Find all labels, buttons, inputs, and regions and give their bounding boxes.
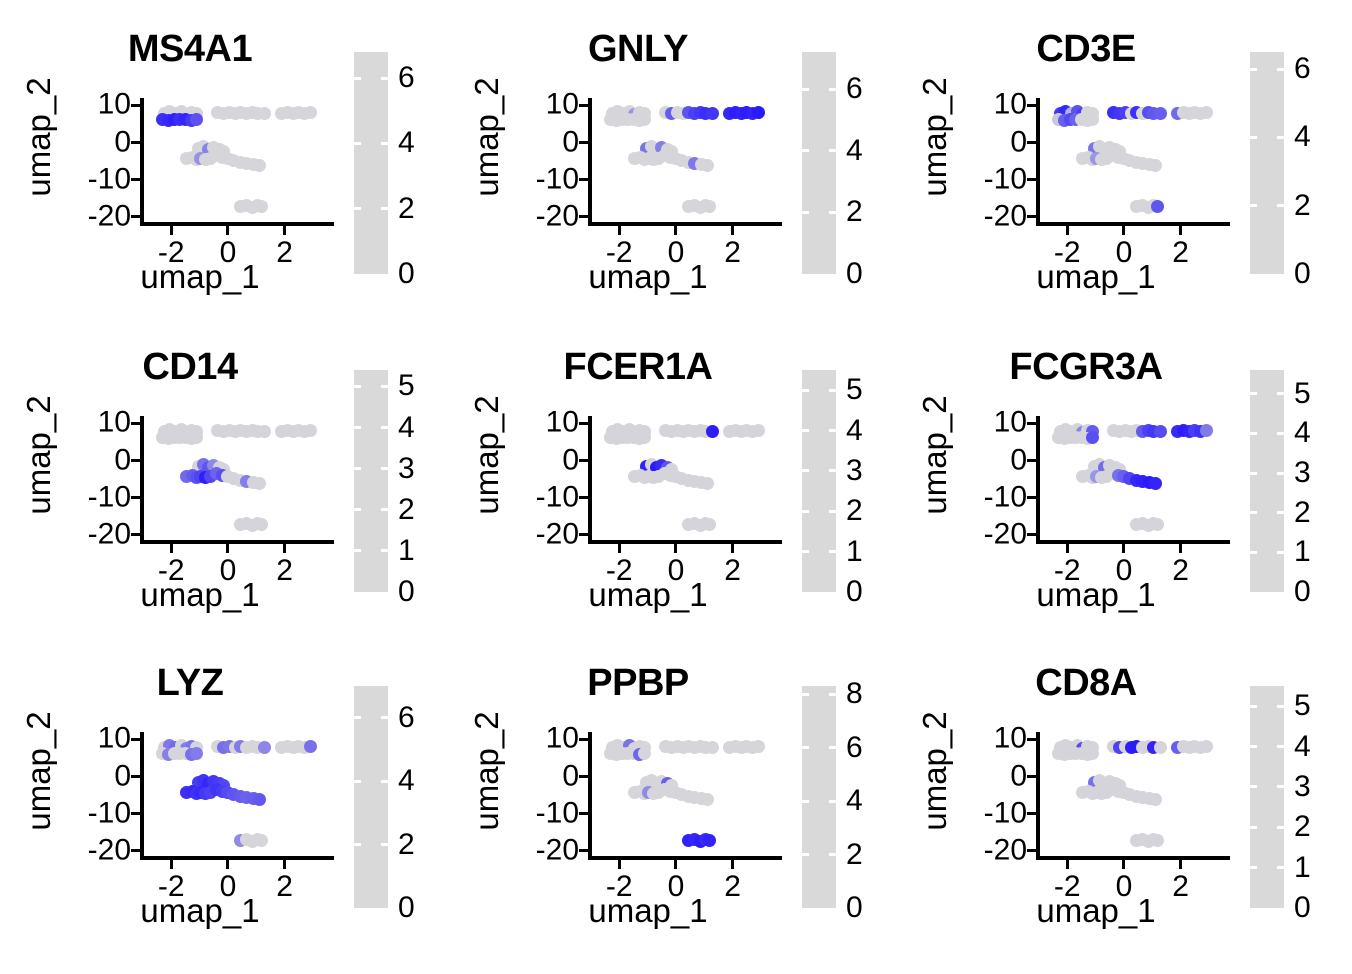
colorbar-tick-label: 6 — [398, 63, 415, 93]
scatter-point — [1086, 113, 1099, 126]
panel-title: CD3E — [936, 28, 1236, 71]
colorbar-tick-mark — [829, 800, 836, 803]
x-tick-label: 0 — [668, 556, 685, 586]
x-tick-label: 2 — [1172, 872, 1189, 902]
colorbar-tick-label: 0 — [1294, 577, 1311, 607]
x-tick-label: 0 — [1116, 238, 1133, 268]
x-tick-mark — [618, 226, 621, 235]
y-tick-label: -10 — [984, 164, 1027, 194]
y-tick-label: -20 — [88, 835, 131, 865]
colorbar: 012345 — [1250, 686, 1346, 914]
colorbar-tick-mark — [354, 207, 361, 210]
x-tick-mark — [731, 860, 734, 869]
scatter-points — [140, 416, 330, 544]
scatter-point — [1086, 431, 1099, 444]
colorbar-tick-mark — [1250, 511, 1257, 514]
colorbar-tick-mark — [829, 550, 836, 553]
scatter-point — [703, 518, 716, 531]
colorbar-tick-label: 0 — [846, 577, 863, 607]
panel-title: CD14 — [40, 346, 340, 389]
x-tick-label: 0 — [668, 872, 685, 902]
x-tick-label: -2 — [1054, 556, 1081, 586]
colorbar-tick-label: 0 — [398, 577, 415, 607]
colorbar-tick-mark — [1277, 136, 1284, 139]
colorbar-tick-label: 2 — [1294, 498, 1311, 528]
feature-panel-cd14: CD14umap_2umap_1100-10-20-202012345 — [0, 318, 450, 642]
colorbar-tick-label: 3 — [1294, 458, 1311, 488]
y-axis-label: umap_2 — [916, 390, 954, 520]
scatter-point — [258, 425, 271, 438]
y-tick-label: -10 — [984, 798, 1027, 828]
y-tick-mark — [1027, 496, 1036, 499]
y-tick-mark — [131, 738, 140, 741]
scatter-point — [1086, 747, 1099, 760]
y-tick-label: -10 — [984, 482, 1027, 512]
scatter-point — [638, 431, 651, 444]
x-tick-label: 0 — [220, 556, 237, 586]
scatter-points — [588, 416, 778, 544]
scatter-points — [140, 732, 330, 860]
y-tick-label: -10 — [536, 164, 579, 194]
scatter-point — [752, 106, 765, 119]
colorbar-tick-mark — [1250, 392, 1257, 395]
scatter-point — [304, 106, 317, 119]
y-tick-mark — [1027, 459, 1036, 462]
y-tick-label: 0 — [114, 761, 131, 791]
colorbar-tick-mark — [802, 693, 809, 696]
x-tick-label: -2 — [1054, 238, 1081, 268]
colorbar: 012345 — [354, 370, 450, 598]
scatter-point — [638, 747, 651, 760]
colorbar-tick-label: 2 — [846, 496, 863, 526]
y-tick-label: 0 — [562, 445, 579, 475]
colorbar-tick-label: 1 — [398, 536, 415, 566]
colorbar-tick-mark — [802, 550, 809, 553]
y-tick-label: -20 — [984, 201, 1027, 231]
y-tick-label: 0 — [562, 761, 579, 791]
x-tick-mark — [170, 860, 173, 869]
colorbar-tick-label: 4 — [1294, 732, 1311, 762]
colorbar-tick-mark — [829, 693, 836, 696]
y-tick-mark — [579, 738, 588, 741]
scatter-point — [1154, 425, 1167, 438]
y-axis-label: umap_2 — [20, 72, 58, 202]
x-tick-mark — [283, 544, 286, 553]
y-tick-mark — [131, 496, 140, 499]
y-tick-mark — [579, 812, 588, 815]
colorbar-tick-label: 4 — [846, 786, 863, 816]
y-tick-label: 10 — [546, 90, 579, 120]
colorbar-tick-label: 0 — [1294, 893, 1311, 923]
colorbar: 0246 — [354, 52, 450, 280]
y-tick-label: -20 — [536, 835, 579, 865]
x-tick-mark — [226, 860, 229, 869]
colorbar-tick-mark — [829, 88, 836, 91]
plot-area: 100-10-20-202 — [140, 732, 330, 860]
y-tick-mark — [131, 849, 140, 852]
x-tick-mark — [1066, 544, 1069, 553]
feature-panel-gnly: GNLYumap_2umap_1100-10-20-2020246 — [448, 0, 898, 324]
colorbar-tick-mark — [381, 549, 388, 552]
x-tick-mark — [1179, 860, 1182, 869]
y-tick-mark — [579, 178, 588, 181]
y-tick-mark — [1027, 178, 1036, 181]
colorbar-tick-mark — [354, 385, 361, 388]
x-tick-mark — [1122, 226, 1125, 235]
y-tick-label: 0 — [1010, 127, 1027, 157]
x-tick-label: 0 — [1116, 556, 1133, 586]
colorbar-tick-label: 4 — [846, 416, 863, 446]
x-tick-label: 2 — [276, 238, 293, 268]
scatter-point — [1151, 518, 1164, 531]
y-tick-mark — [1027, 141, 1036, 144]
colorbar-tick-mark — [381, 385, 388, 388]
colorbar-tick-mark — [354, 426, 361, 429]
colorbar-tick-label: 6 — [846, 74, 863, 104]
scatter-points — [588, 732, 778, 860]
colorbar-gradient — [802, 52, 836, 274]
colorbar-tick-label: 1 — [1294, 537, 1311, 567]
y-tick-mark — [1027, 533, 1036, 536]
colorbar-tick-mark — [1277, 826, 1284, 829]
colorbar-tick-mark — [802, 88, 809, 91]
x-tick-label: -2 — [1054, 872, 1081, 902]
x-tick-mark — [1066, 226, 1069, 235]
colorbar-tick-mark — [802, 800, 809, 803]
x-tick-mark — [1179, 544, 1182, 553]
plot-area: 100-10-20-202 — [1036, 416, 1226, 544]
scatter-points — [140, 98, 330, 226]
y-tick-label: -20 — [536, 201, 579, 231]
y-axis-label: umap_2 — [20, 390, 58, 520]
colorbar-tick-mark — [1250, 68, 1257, 71]
y-tick-label: 10 — [98, 724, 131, 754]
x-tick-mark — [226, 544, 229, 553]
y-tick-label: 10 — [98, 408, 131, 438]
y-tick-mark — [1027, 422, 1036, 425]
x-tick-mark — [1066, 860, 1069, 869]
x-tick-label: -2 — [158, 872, 185, 902]
scatter-point — [638, 113, 651, 126]
colorbar-tick-mark — [381, 142, 388, 145]
y-tick-label: -20 — [88, 519, 131, 549]
y-tick-label: 0 — [1010, 445, 1027, 475]
colorbar-tick-mark — [381, 207, 388, 210]
x-tick-label: 0 — [220, 238, 237, 268]
scatter-points — [1036, 732, 1226, 860]
x-tick-mark — [170, 544, 173, 553]
scatter-point — [703, 834, 716, 847]
x-tick-mark — [731, 544, 734, 553]
colorbar-tick-mark — [381, 780, 388, 783]
colorbar-gradient — [354, 370, 388, 592]
scatter-point — [706, 107, 719, 120]
colorbar-tick-mark — [829, 510, 836, 513]
scatter-point — [255, 200, 268, 213]
colorbar-tick-label: 4 — [398, 766, 415, 796]
feature-panel-ppbp: PPBPumap_2umap_1100-10-20-20202468 — [448, 634, 898, 958]
y-tick-mark — [1027, 104, 1036, 107]
x-tick-mark — [226, 226, 229, 235]
colorbar-tick-mark — [1277, 432, 1284, 435]
y-axis-label: umap_2 — [468, 72, 506, 202]
y-tick-mark — [131, 533, 140, 536]
colorbar-tick-label: 6 — [1294, 54, 1311, 84]
x-tick-label: -2 — [606, 238, 633, 268]
colorbar-tick-label: 4 — [846, 136, 863, 166]
colorbar-tick-mark — [1277, 472, 1284, 475]
colorbar-tick-mark — [829, 853, 836, 856]
colorbar-tick-mark — [381, 716, 388, 719]
x-tick-label: 0 — [1116, 872, 1133, 902]
scatter-point — [701, 159, 714, 172]
scatter-point — [701, 793, 714, 806]
plot-area: 100-10-20-202 — [588, 98, 778, 226]
x-tick-mark — [674, 544, 677, 553]
colorbar-tick-mark — [1277, 785, 1284, 788]
colorbar-gradient — [1250, 370, 1284, 592]
x-tick-label: 0 — [220, 872, 237, 902]
colorbar-tick-mark — [1277, 392, 1284, 395]
scatter-point — [1149, 793, 1162, 806]
colorbar-tick-mark — [381, 508, 388, 511]
panel-title: MS4A1 — [40, 28, 340, 71]
colorbar: 02468 — [802, 686, 898, 914]
colorbar-tick-label: 5 — [398, 371, 415, 401]
colorbar-tick-mark — [1250, 472, 1257, 475]
colorbar: 012345 — [1250, 370, 1346, 598]
plot-area: 100-10-20-202 — [140, 416, 330, 544]
y-axis-label: umap_2 — [20, 706, 58, 836]
colorbar-tick-mark — [381, 843, 388, 846]
colorbar-tick-label: 2 — [398, 830, 415, 860]
colorbar-tick-mark — [802, 746, 809, 749]
colorbar-tick-mark — [381, 426, 388, 429]
y-tick-label: 10 — [98, 90, 131, 120]
scatter-point — [304, 740, 317, 753]
scatter-point — [258, 741, 271, 754]
y-tick-mark — [1027, 812, 1036, 815]
y-tick-label: 0 — [114, 127, 131, 157]
scatter-point — [304, 424, 317, 437]
colorbar-gradient — [802, 370, 836, 592]
colorbar-gradient — [354, 52, 388, 274]
colorbar: 012345 — [802, 370, 898, 598]
x-tick-mark — [1122, 860, 1125, 869]
colorbar-tick-label: 0 — [1294, 259, 1311, 289]
scatter-points — [1036, 98, 1226, 226]
colorbar-tick-mark — [1250, 136, 1257, 139]
x-tick-label: -2 — [158, 238, 185, 268]
x-tick-mark — [674, 226, 677, 235]
colorbar-tick-label: 6 — [398, 703, 415, 733]
scatter-point — [253, 159, 266, 172]
y-tick-mark — [131, 775, 140, 778]
x-tick-mark — [731, 226, 734, 235]
colorbar-gradient — [354, 686, 388, 908]
x-tick-label: -2 — [158, 556, 185, 586]
scatter-point — [253, 477, 266, 490]
scatter-point — [1200, 740, 1213, 753]
y-tick-label: -20 — [984, 835, 1027, 865]
colorbar-tick-mark — [1250, 432, 1257, 435]
y-tick-mark — [579, 533, 588, 536]
y-tick-mark — [131, 141, 140, 144]
colorbar: 0246 — [802, 52, 898, 280]
x-tick-mark — [674, 860, 677, 869]
colorbar-tick-label: 5 — [1294, 691, 1311, 721]
scatter-point — [1149, 477, 1162, 490]
colorbar-tick-mark — [354, 549, 361, 552]
feature-panel-fcer1a: FCER1Aumap_2umap_1100-10-20-202012345 — [448, 318, 898, 642]
colorbar-tick-mark — [381, 467, 388, 470]
y-tick-label: -10 — [536, 798, 579, 828]
y-tick-label: -20 — [88, 201, 131, 231]
colorbar-gradient — [1250, 52, 1284, 274]
x-tick-mark — [283, 860, 286, 869]
colorbar-tick-label: 5 — [846, 375, 863, 405]
colorbar-tick-mark — [1277, 204, 1284, 207]
panel-title: PPBP — [488, 662, 788, 705]
feature-panel-lyz: LYZumap_2umap_1100-10-20-2020246 — [0, 634, 450, 958]
y-tick-mark — [579, 422, 588, 425]
x-tick-mark — [170, 226, 173, 235]
colorbar-tick-mark — [354, 77, 361, 80]
colorbar-tick-mark — [1277, 705, 1284, 708]
x-tick-label: -2 — [606, 872, 633, 902]
y-tick-mark — [579, 141, 588, 144]
scatter-point — [190, 431, 203, 444]
x-tick-label: 2 — [1172, 556, 1189, 586]
colorbar-tick-mark — [381, 77, 388, 80]
y-axis-label: umap_2 — [468, 390, 506, 520]
y-tick-mark — [1027, 215, 1036, 218]
colorbar-tick-mark — [1250, 785, 1257, 788]
y-tick-mark — [131, 104, 140, 107]
y-tick-label: -10 — [536, 482, 579, 512]
colorbar-tick-mark — [1250, 204, 1257, 207]
colorbar-tick-mark — [1277, 511, 1284, 514]
y-tick-mark — [579, 459, 588, 462]
colorbar-tick-mark — [1277, 551, 1284, 554]
y-tick-label: -20 — [984, 519, 1027, 549]
colorbar-tick-label: 4 — [1294, 122, 1311, 152]
scatter-point — [1149, 159, 1162, 172]
colorbar-tick-mark — [1250, 705, 1257, 708]
colorbar-tick-label: 1 — [846, 537, 863, 567]
feature-panel-cd8a: CD8Aumap_2umap_1100-10-20-202012345 — [896, 634, 1346, 958]
panel-title: LYZ — [40, 662, 340, 705]
colorbar-tick-label: 5 — [1294, 379, 1311, 409]
colorbar-tick-label: 0 — [398, 259, 415, 289]
y-tick-label: 10 — [546, 408, 579, 438]
scatter-point — [253, 793, 266, 806]
scatter-point — [1154, 741, 1167, 754]
colorbar-tick-label: 2 — [846, 840, 863, 870]
colorbar-tick-mark — [354, 843, 361, 846]
y-tick-label: 0 — [1010, 761, 1027, 791]
colorbar-tick-mark — [829, 389, 836, 392]
colorbar-tick-label: 8 — [846, 679, 863, 709]
scatter-point — [703, 200, 716, 213]
colorbar-tick-label: 4 — [398, 413, 415, 443]
scatter-points — [1036, 416, 1226, 544]
colorbar-tick-mark — [802, 389, 809, 392]
colorbar-tick-mark — [1277, 745, 1284, 748]
scatter-point — [1200, 424, 1213, 437]
plot-area: 100-10-20-202 — [588, 416, 778, 544]
scatter-point — [1200, 106, 1213, 119]
x-tick-label: 2 — [1172, 238, 1189, 268]
y-tick-label: 10 — [546, 724, 579, 754]
y-tick-mark — [1027, 775, 1036, 778]
colorbar-gradient — [1250, 686, 1284, 908]
y-tick-label: -20 — [536, 519, 579, 549]
y-tick-mark — [131, 812, 140, 815]
scatter-point — [1151, 834, 1164, 847]
scatter-points — [588, 98, 778, 226]
y-axis-label: umap_2 — [468, 706, 506, 836]
scatter-point — [1151, 200, 1164, 213]
feature-panel-fcgr3a: FCGR3Aumap_2umap_1100-10-20-202012345 — [896, 318, 1346, 642]
scatter-point — [255, 518, 268, 531]
colorbar-tick-label: 4 — [1294, 418, 1311, 448]
y-tick-label: 10 — [994, 408, 1027, 438]
y-axis-label: umap_2 — [916, 72, 954, 202]
y-tick-mark — [131, 215, 140, 218]
scatter-point — [752, 424, 765, 437]
x-tick-label: 2 — [724, 556, 741, 586]
x-tick-mark — [1122, 544, 1125, 553]
colorbar-tick-mark — [829, 746, 836, 749]
x-tick-label: 0 — [668, 238, 685, 268]
panel-title: GNLY — [488, 28, 788, 71]
colorbar-tick-mark — [829, 469, 836, 472]
colorbar-tick-mark — [354, 508, 361, 511]
y-axis-label: umap_2 — [916, 706, 954, 836]
scatter-point — [258, 107, 271, 120]
colorbar-tick-mark — [354, 467, 361, 470]
colorbar-tick-label: 6 — [846, 733, 863, 763]
x-tick-label: 2 — [276, 556, 293, 586]
plot-area: 100-10-20-202 — [1036, 732, 1226, 860]
y-tick-mark — [1027, 738, 1036, 741]
colorbar-tick-mark — [802, 853, 809, 856]
scatter-point — [706, 425, 719, 438]
colorbar-tick-mark — [829, 149, 836, 152]
colorbar-tick-label: 3 — [1294, 772, 1311, 802]
y-tick-label: 0 — [114, 445, 131, 475]
x-tick-label: 2 — [724, 238, 741, 268]
colorbar: 0246 — [354, 686, 450, 914]
y-tick-label: -10 — [88, 798, 131, 828]
colorbar-tick-label: 0 — [398, 893, 415, 923]
y-tick-label: 0 — [562, 127, 579, 157]
colorbar-tick-label: 3 — [846, 456, 863, 486]
plot-area: 100-10-20-202 — [140, 98, 330, 226]
colorbar: 0246 — [1250, 52, 1346, 280]
y-tick-mark — [1027, 849, 1036, 852]
scatter-point — [701, 477, 714, 490]
plot-area: 100-10-20-202 — [1036, 98, 1226, 226]
panel-title: FCER1A — [488, 346, 788, 389]
colorbar-tick-mark — [354, 780, 361, 783]
colorbar-tick-mark — [1250, 866, 1257, 869]
feature-plot-figure: MS4A1umap_2umap_1100-10-20-2020246GNLYum… — [0, 0, 1352, 974]
x-tick-label: 2 — [724, 872, 741, 902]
scatter-point — [706, 741, 719, 754]
panel-title: CD8A — [936, 662, 1236, 705]
